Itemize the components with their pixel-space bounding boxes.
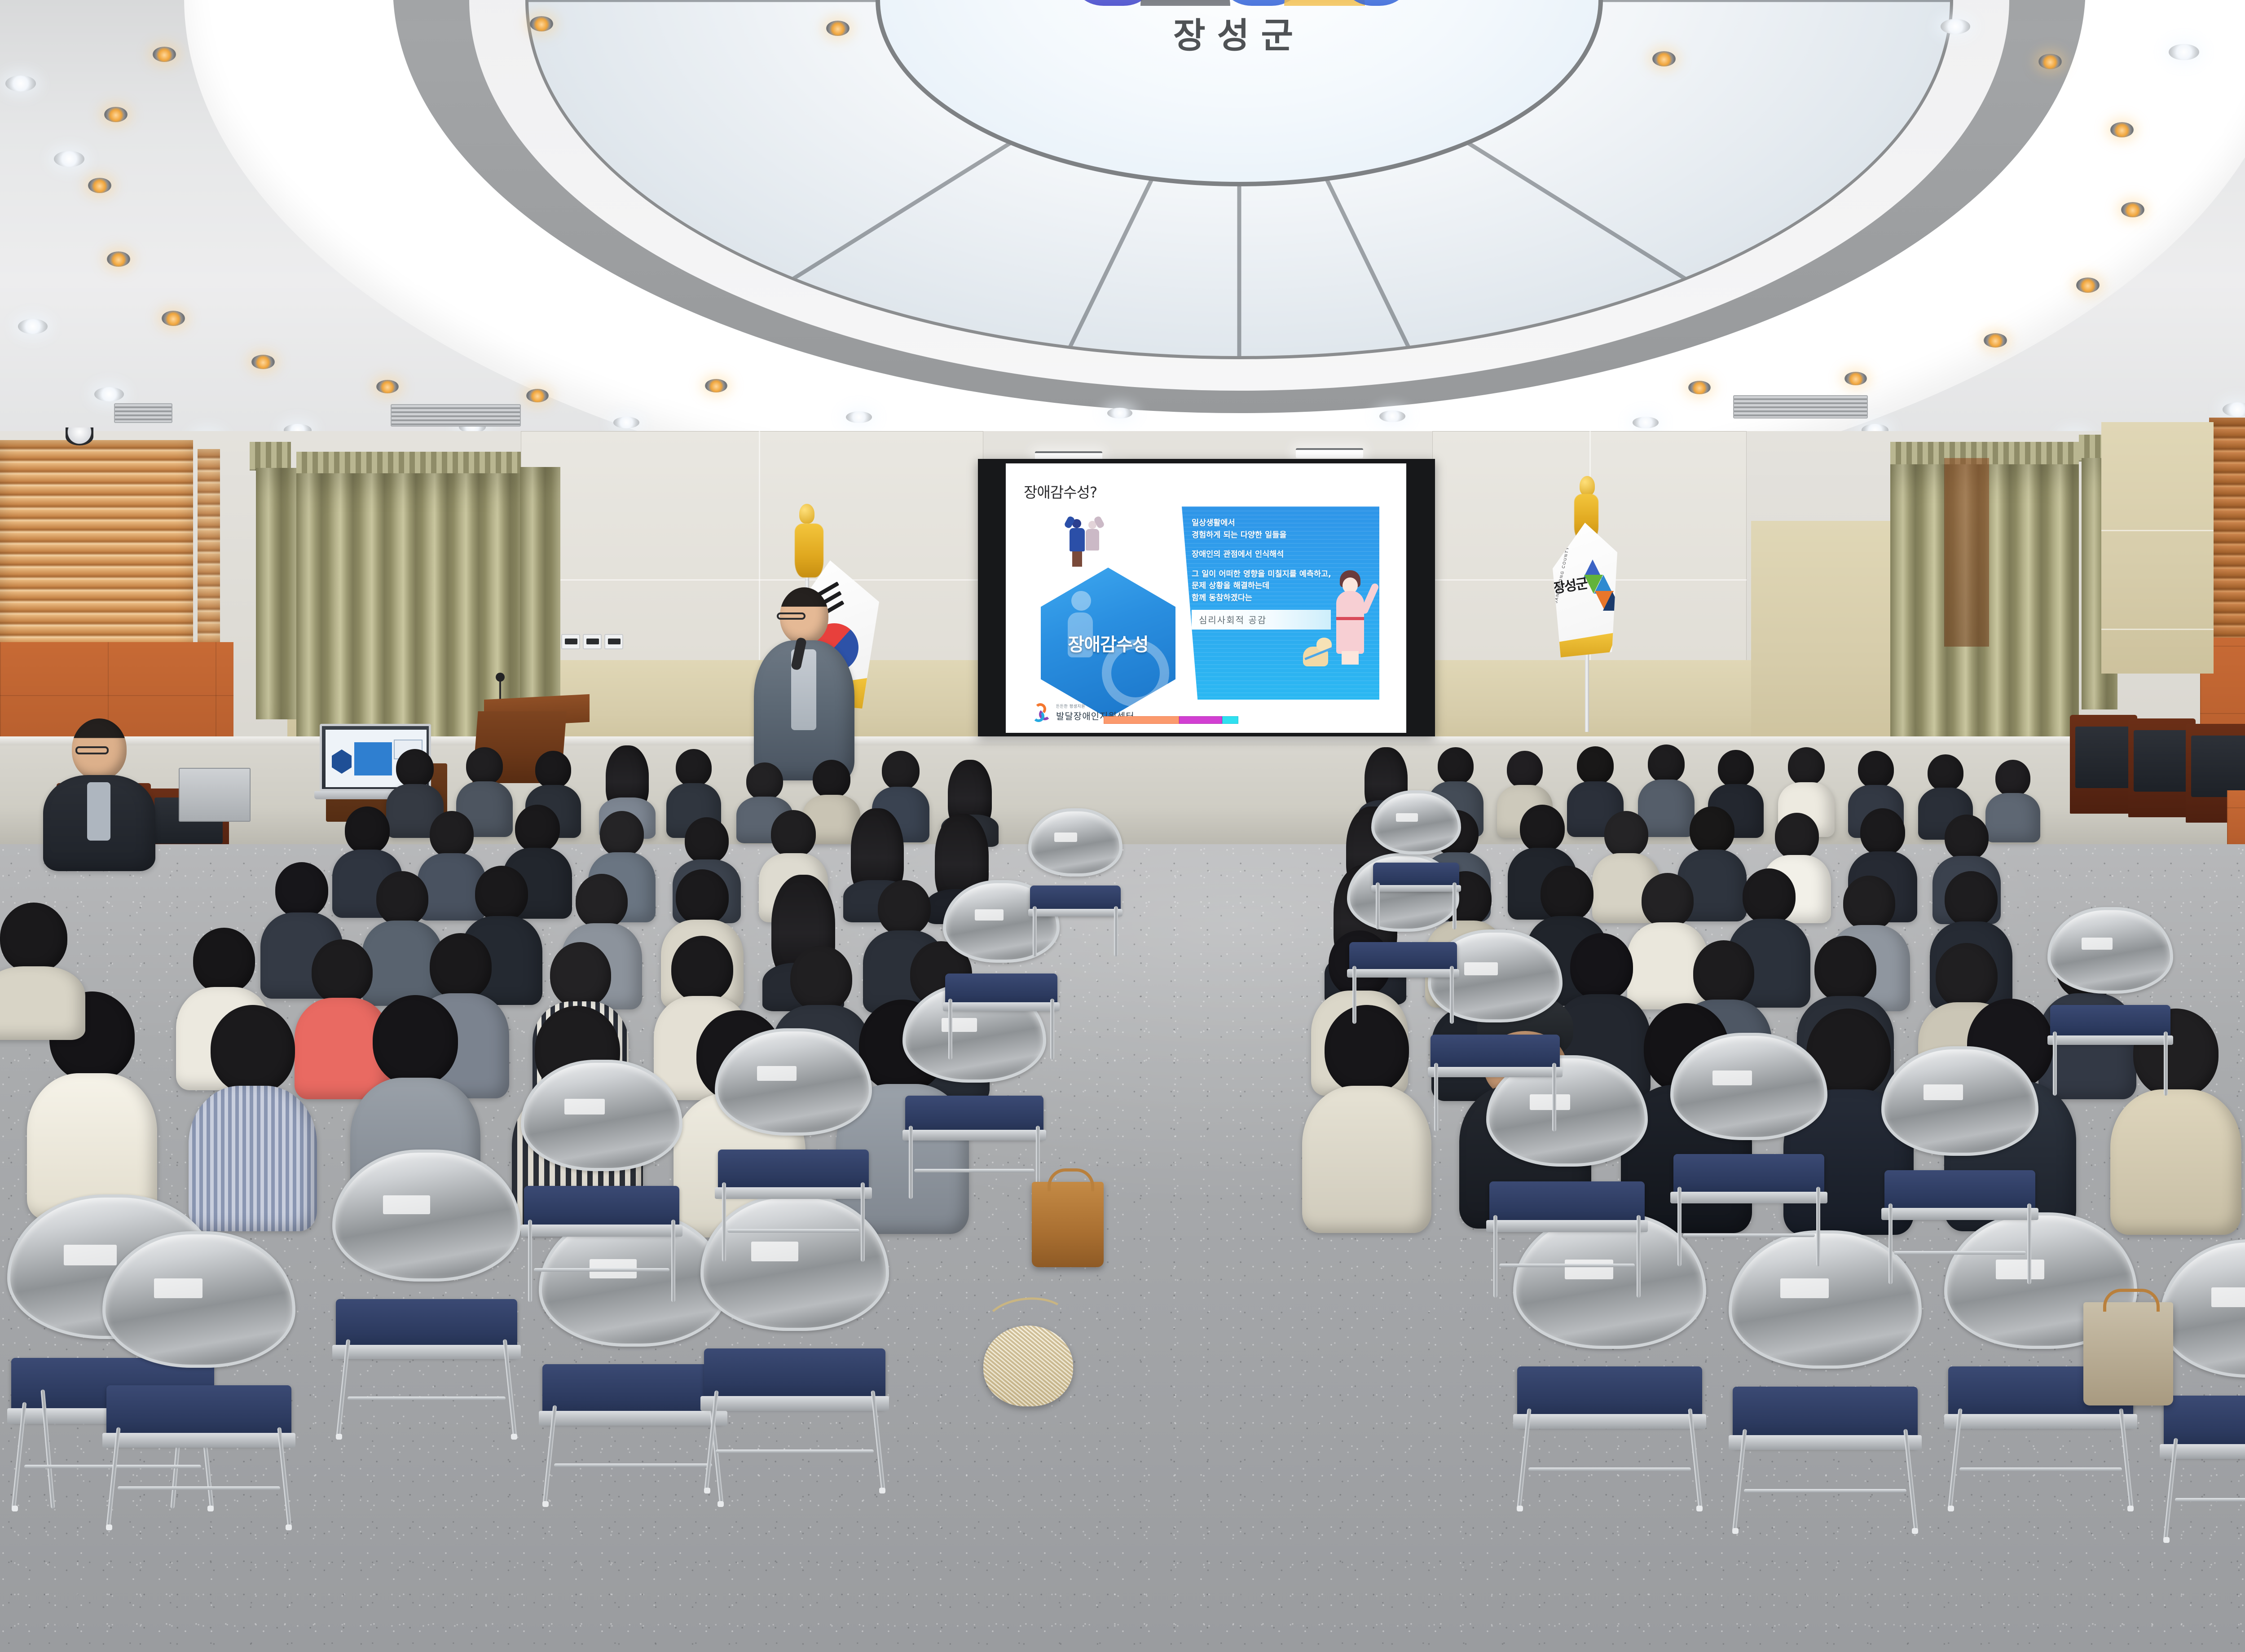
wood-trim-right	[1944, 458, 1989, 647]
slide-text-panel: 일상생활에서 경험하게 되는 다양한 일들을 장애인의 관점에서 인식해석 그 …	[1182, 507, 1379, 700]
ceiling-spotlight	[162, 311, 185, 326]
curtain-valance-left	[250, 442, 291, 471]
projection-screen: 장애감수성? 장애감수성 일상생활에서 경험하게 되는	[1006, 463, 1406, 733]
emblem-arc-gold	[1284, 0, 1365, 6]
ceiling-security-camera	[66, 427, 93, 445]
slide-accent-bar	[1104, 716, 1238, 724]
wall-outlet	[561, 634, 580, 649]
ceiling-spotlight	[104, 107, 128, 122]
curtain-left-narrow[interactable]	[256, 468, 296, 719]
wall-outlet	[604, 634, 623, 649]
ceiling-spotlight	[1652, 51, 1676, 66]
folding-chair[interactable]	[2047, 907, 2173, 1096]
folding-chair[interactable]	[715, 1028, 872, 1262]
flag-finial	[799, 504, 814, 524]
org-logo-mark	[1032, 702, 1052, 723]
window-blinds-right[interactable]	[2209, 418, 2245, 669]
slide-body-line: 일상생활에서	[1192, 517, 1379, 529]
ac-vent	[114, 403, 172, 423]
ceiling-spotlight	[2121, 202, 2144, 217]
folding-chair[interactable]	[1670, 1033, 1827, 1266]
wall-outlet	[583, 634, 602, 649]
wall-column-right	[2101, 422, 2214, 674]
ceiling-downlight	[5, 75, 36, 92]
emblem-text: 장성군	[1069, 8, 1410, 58]
wall-seam	[2101, 629, 2214, 630]
ceiling-downlight	[2169, 44, 2199, 60]
presenter-glasses	[777, 612, 806, 620]
slide-figure-guide-dog	[1303, 633, 1336, 666]
ceiling-downlight	[613, 417, 639, 428]
ceiling-spotlight	[826, 21, 850, 36]
slide-hexagon-badge: 장애감수성	[1041, 568, 1175, 718]
flag-tassel	[795, 524, 823, 577]
tote-bag[interactable]	[1032, 1182, 1104, 1267]
window-blinds-left-edge[interactable]	[198, 449, 220, 665]
ceiling-downlight	[846, 411, 872, 423]
emblem-arc-grey	[1140, 0, 1230, 6]
slide-highlight-box: 심리사회적 공감	[1192, 610, 1331, 630]
folding-chair[interactable]	[521, 1060, 682, 1302]
ceiling-spotlight	[705, 379, 727, 392]
lecture-hall-photo: 장성군	[0, 0, 2245, 1652]
ceiling-spotlight	[107, 251, 130, 267]
slide-title: 장애감수성?	[1024, 480, 1097, 502]
accent-bar-segment-cyan	[1222, 716, 1238, 724]
ceiling-downlight	[2223, 402, 2245, 417]
flag-finial	[1580, 476, 1595, 496]
folding-chair[interactable]	[102, 1231, 295, 1528]
attendee	[0, 903, 85, 1037]
folding-chair[interactable]	[1028, 808, 1122, 956]
ceiling-spotlight	[376, 380, 399, 393]
ceiling-downlight	[18, 319, 48, 334]
ceiling-spotlight	[1984, 333, 2007, 348]
ceiling-spotlight	[1844, 372, 1867, 385]
ac-vent	[391, 404, 521, 427]
ceiling-spotlight	[2038, 54, 2062, 69]
accent-bar-segment-orange	[1104, 716, 1179, 724]
screen-light-fixture	[1296, 448, 1363, 458]
ceiling-downlight	[54, 151, 84, 167]
av-equipment-case	[179, 768, 251, 822]
window-blinds-left[interactable]	[0, 440, 193, 674]
seated-official	[43, 718, 155, 867]
accent-bar-segment-magenta	[1179, 716, 1222, 724]
slide-body-line: 경험하게 되는 다양한 일들을	[1192, 529, 1379, 542]
slide-body-line: 장애인의 관점에서 인식해석	[1192, 549, 1379, 561]
ceiling-spotlight	[251, 355, 275, 369]
folding-chair[interactable]	[1371, 790, 1461, 930]
ceiling-spotlight	[88, 178, 111, 193]
ceiling-spotlight	[1688, 381, 1711, 394]
ceiling-spotlight	[526, 389, 549, 402]
ceiling: 장성군	[0, 0, 2245, 454]
podium-microphone	[496, 673, 505, 682]
official-wooden-chair[interactable]	[2070, 715, 2137, 814]
folding-chair[interactable]	[1881, 1046, 2038, 1284]
slide-figure-couple	[1069, 514, 1112, 568]
tote-bag[interactable]	[2083, 1302, 2173, 1405]
org-logo-subtitle: 든든한 평생지원	[1056, 703, 1135, 709]
wall-beige-column	[1751, 521, 1899, 754]
ceiling-downlight	[1107, 408, 1132, 419]
ceiling-downlight	[94, 387, 124, 401]
ac-vent	[1733, 395, 1868, 419]
ceiling-downlight	[1379, 410, 1405, 422]
ceiling-downlight	[1941, 19, 1970, 34]
emblem-arc-group	[1069, 0, 1410, 6]
presenter	[753, 587, 856, 780]
ceiling-spotlight	[153, 47, 176, 62]
projection-screen-frame: 장애감수성? 장애감수성 일상생활에서 경험하게 되는	[978, 459, 1435, 736]
ceiling-spotlight	[2110, 122, 2134, 137]
ceiling-spotlight	[2076, 278, 2100, 293]
ceiling-spotlight	[530, 16, 553, 31]
slide-hexagon-label: 장애감수성	[1068, 630, 1149, 656]
attendee	[1302, 1005, 1431, 1230]
ceiling-emblem: 장성군	[1069, 0, 1410, 58]
folding-chair[interactable]	[332, 1150, 521, 1437]
wall-seam	[2101, 530, 2214, 531]
wall-seam	[521, 579, 983, 581]
ceiling-downlight	[1633, 417, 1659, 428]
